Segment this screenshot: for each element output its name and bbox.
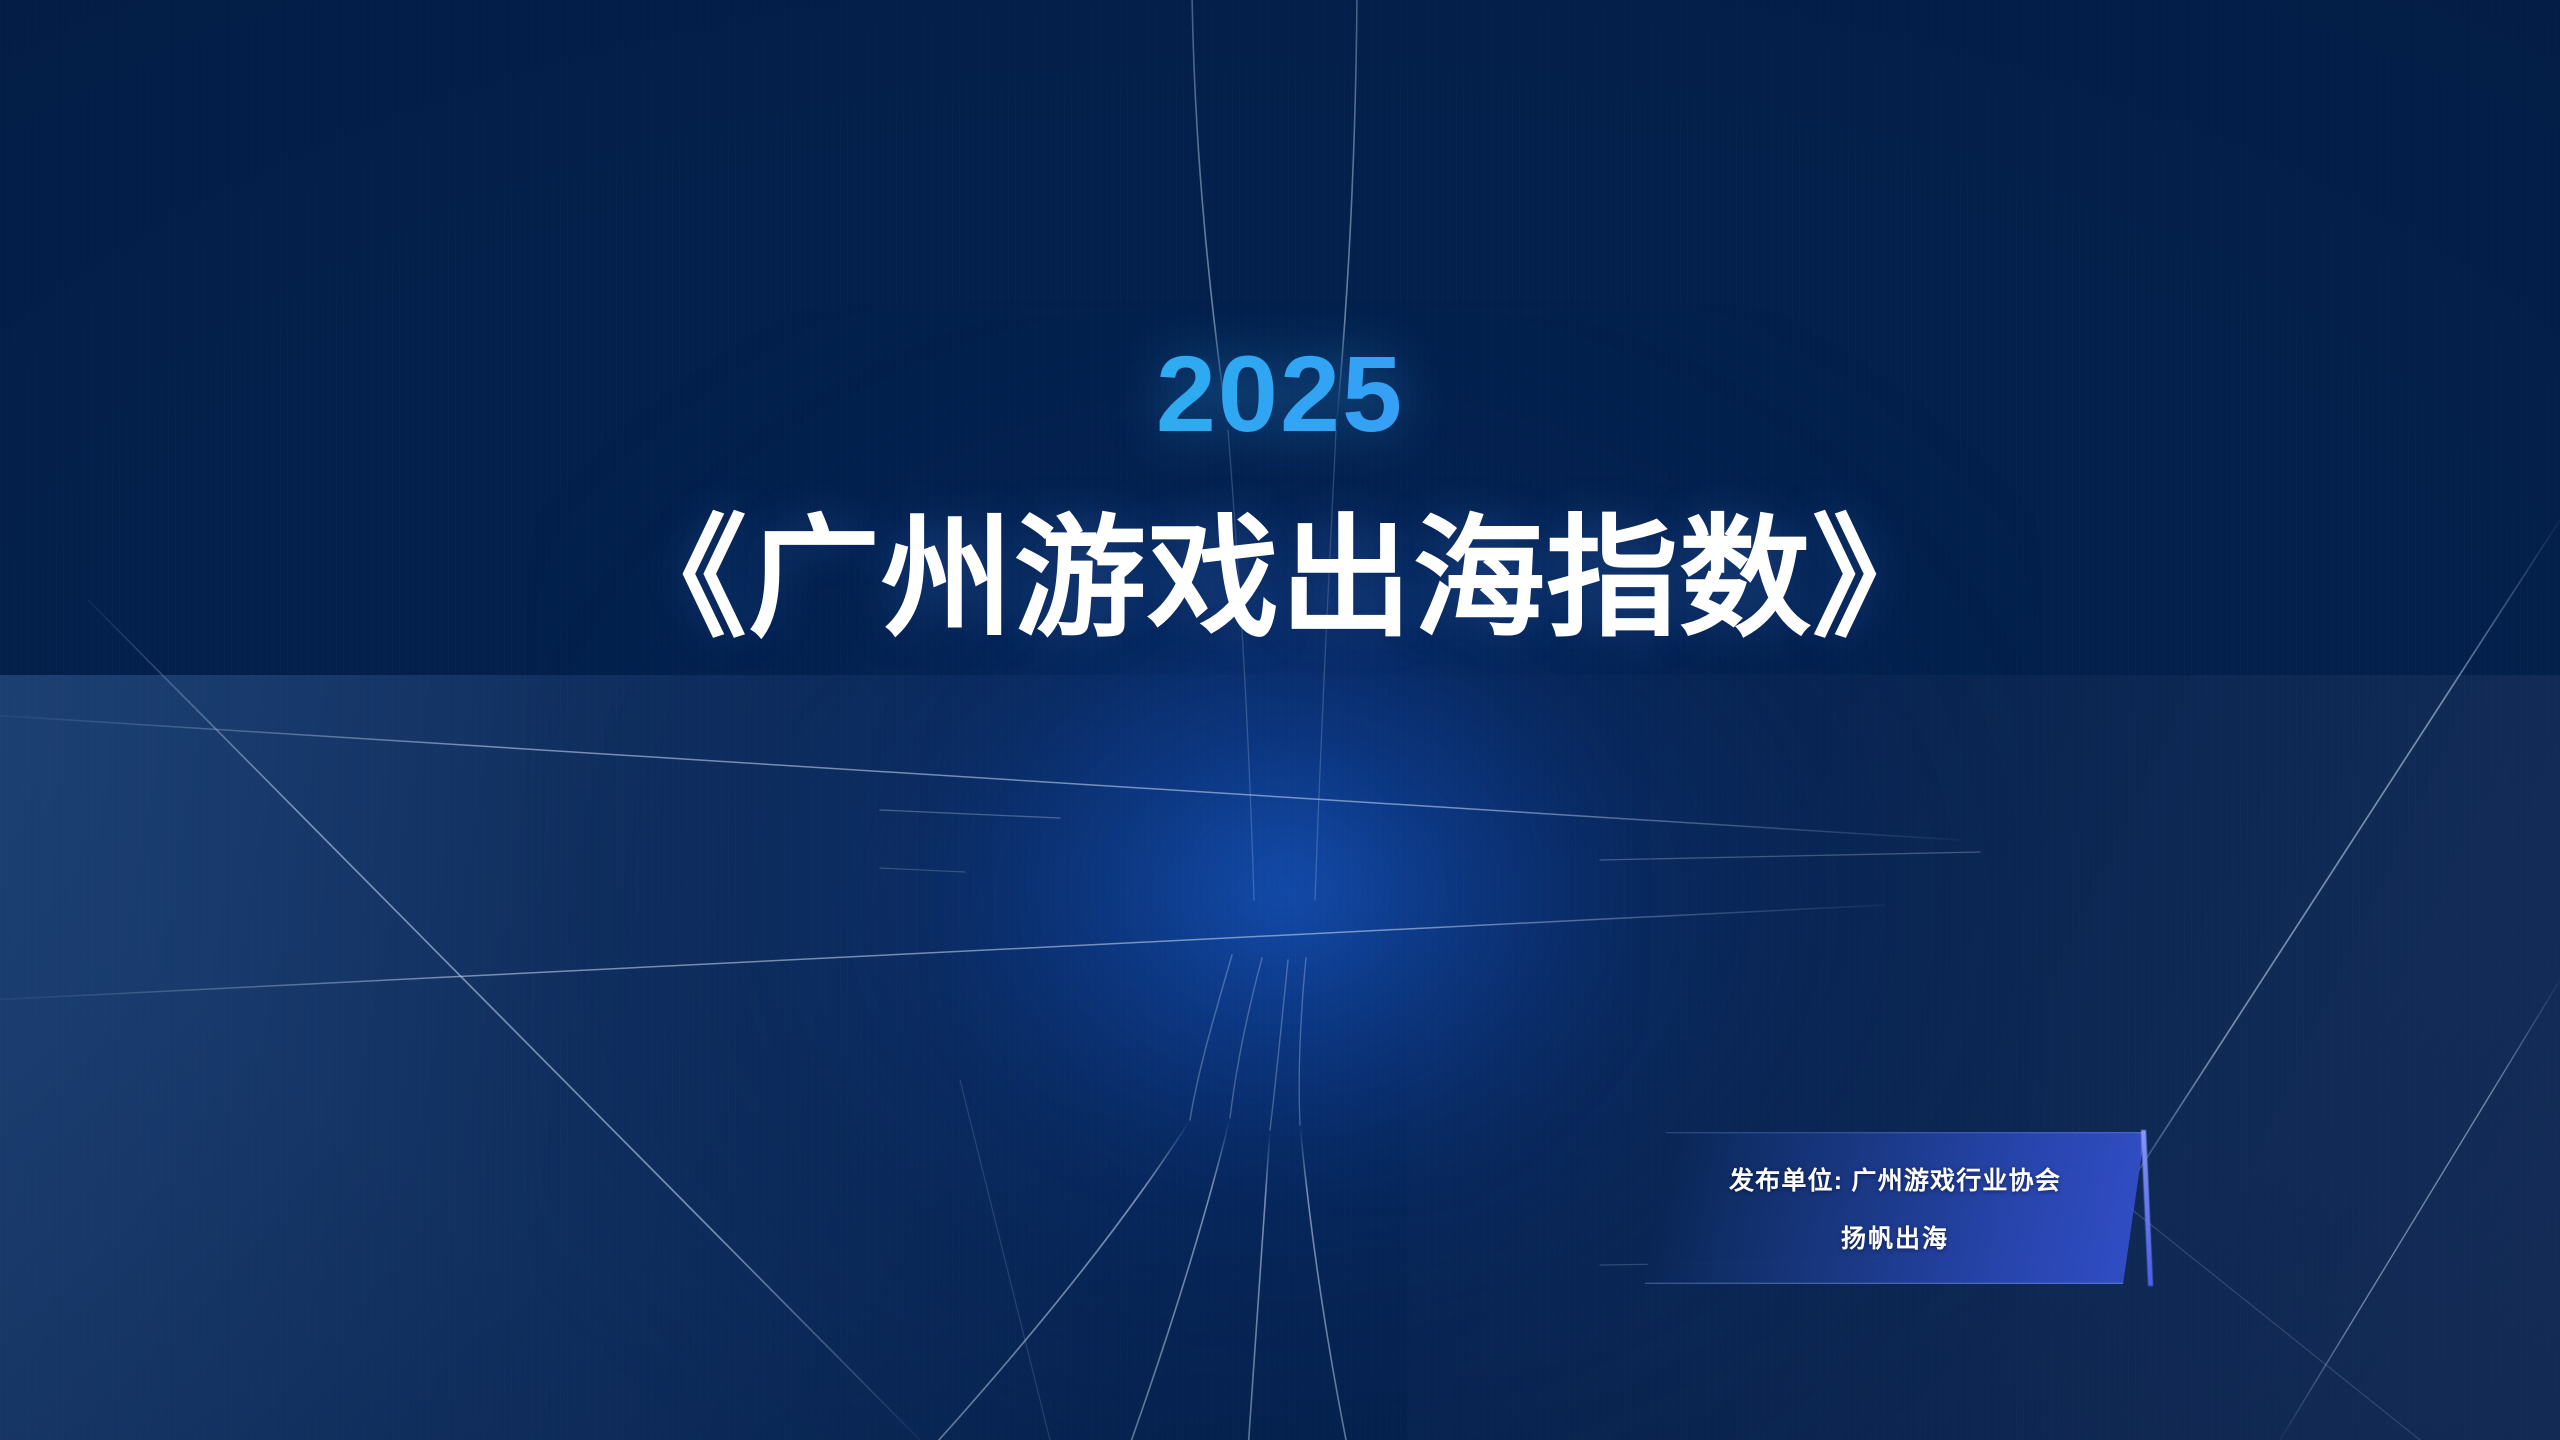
page-title: 《广州游戏出海指数》 — [0, 505, 2560, 653]
presentation-slide: 2025 《广州游戏出海指数》 发布单位: 广州游戏行业协会 扬帆出海 — [0, 0, 2560, 1440]
publisher-badge: 发布单位: 广州游戏行业协会 扬帆出海 — [1645, 1132, 2145, 1284]
background-vignette — [0, 0, 2560, 1440]
year-heading: 2025 — [0, 340, 2560, 448]
publisher-partner: 扬帆出海 — [1841, 1219, 1949, 1255]
publisher-badge-text: 发布单位: 广州游戏行业协会 扬帆出海 — [1645, 1132, 2145, 1284]
publisher-organization: 发布单位: 广州游戏行业协会 — [1729, 1161, 2061, 1197]
